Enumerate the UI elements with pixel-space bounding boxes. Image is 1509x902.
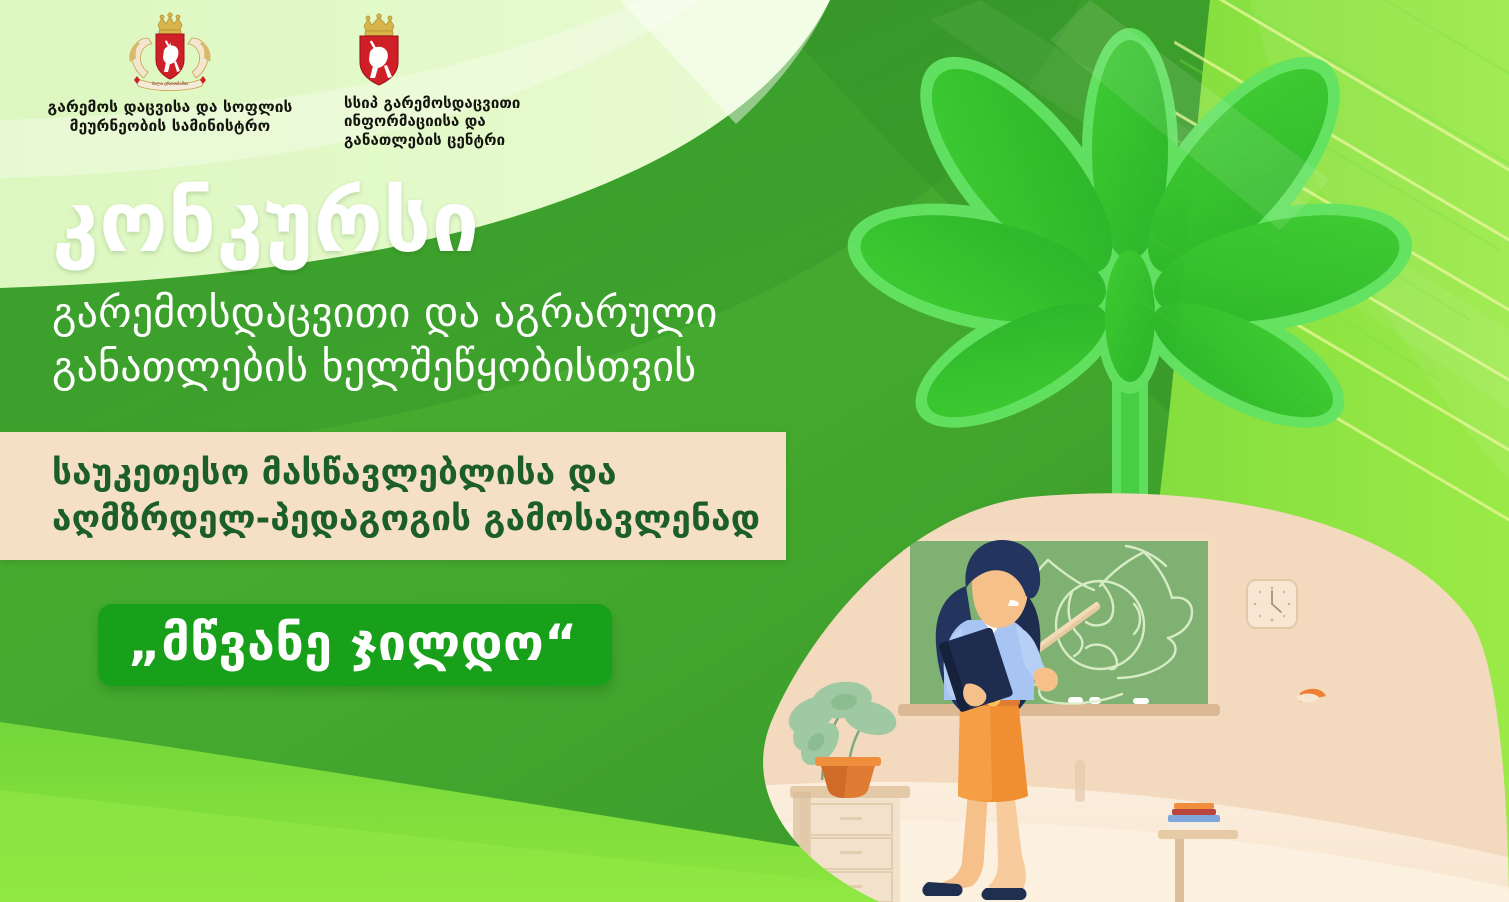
ministry-line-1: გარემოს დაცვისა და სოფლის bbox=[40, 98, 300, 117]
center-line-3: განათლების ცენტრი bbox=[344, 131, 570, 149]
text-block: კონკურსი გარემოსდაცვითი და აგრარული განა… bbox=[0, 180, 820, 394]
banner-line-1: საუკეთესო მასწავლებლისა და bbox=[0, 450, 786, 496]
svg-text:ძალა ერთობაშია: ძალა ერთობაშია bbox=[152, 80, 190, 87]
center-line-2: ინფორმაციისა და bbox=[344, 112, 570, 130]
ministry-line-2: მეურნეობის სამინისტრო bbox=[40, 117, 300, 136]
center-line-1: სსიპ გარემოსდაცვითი bbox=[344, 94, 570, 112]
center-logo-text: სსიპ გარემოსდაცვითი ინფორმაციისა და განა… bbox=[330, 94, 570, 149]
poster-canvas: ძალა ერთობაშია გარემოს დაცვისა და სოფლის… bbox=[0, 0, 1509, 902]
georgia-shield-crown-icon bbox=[346, 12, 412, 90]
purpose-banner: საუკეთესო მასწავლებლისა და აღმზრდელ-პედა… bbox=[0, 432, 786, 560]
header-logos: ძალა ერთობაშია გარემოს დაცვისა და სოფლის… bbox=[0, 0, 620, 150]
banner-line-2: აღმზრდელ-პედაგოგის გამოსავლენად bbox=[0, 496, 786, 542]
ministry-logo-text: გარემოს დაცვისა და სოფლის მეურნეობის სამ… bbox=[40, 98, 300, 136]
subtitle-line-1: გარემოსდაცვითი და აგრარული bbox=[52, 286, 820, 340]
award-name-badge: „მწვანე ჯილდო“ bbox=[98, 604, 612, 686]
page-title: კონკურსი bbox=[0, 180, 820, 264]
ministry-logo-block: ძალა ერთობაშია გარემოს დაცვისა და სოფლის… bbox=[40, 12, 300, 136]
center-logo-block: სსიპ გარემოსდაცვითი ინფორმაციისა და განა… bbox=[330, 12, 570, 149]
award-name-label: „მწვანე ჯილდო“ bbox=[128, 614, 578, 672]
subtitle-line-2: განათლების ხელშეწყობისთვის bbox=[52, 340, 820, 394]
subtitle: გარემოსდაცვითი და აგრარული განათლების ხე… bbox=[0, 286, 820, 394]
georgia-coat-of-arms-icon: ძალა ერთობაშია bbox=[118, 12, 222, 94]
